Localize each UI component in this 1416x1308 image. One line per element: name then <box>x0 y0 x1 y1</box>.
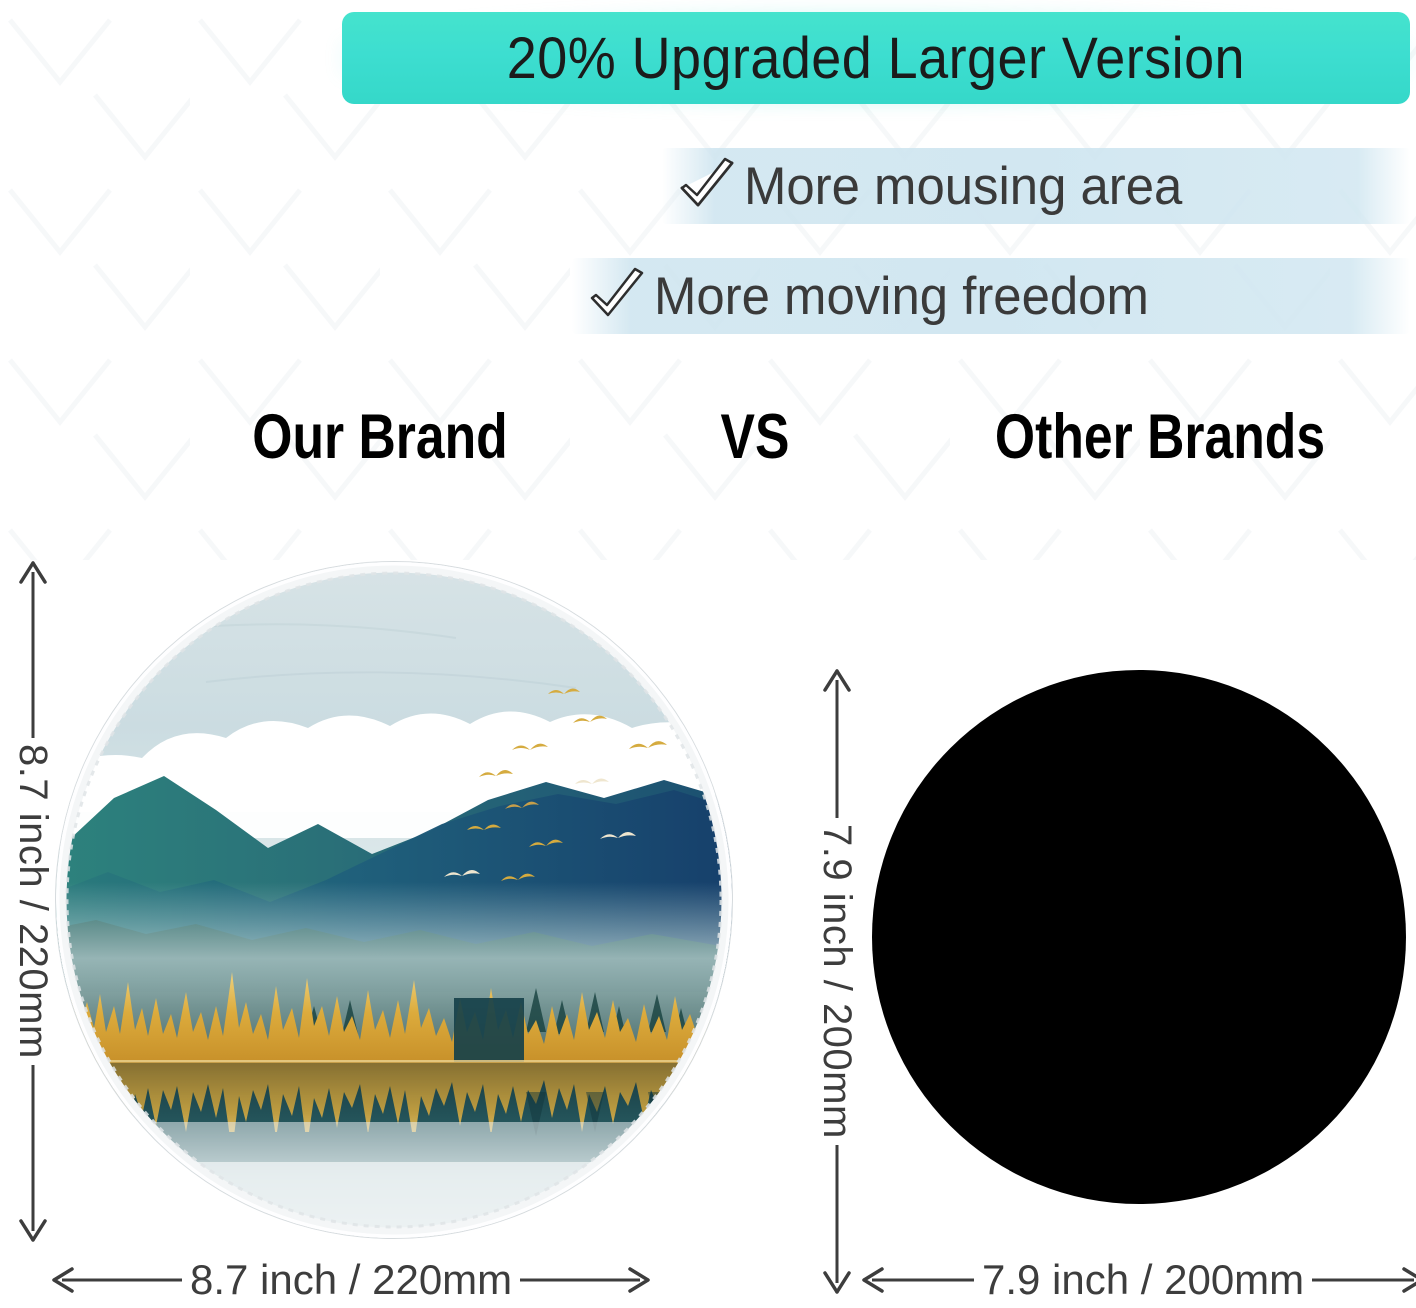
dimension-label: 7.9 inch / 200mm <box>974 1252 1312 1308</box>
banner-headline-text: 20% Upgraded Larger Version <box>507 25 1245 92</box>
dimension-label: 8.7 inch / 220mm <box>182 1252 520 1308</box>
dimension-label: 7.9 inch / 200mm <box>806 818 868 1145</box>
comparison-header: Our Brand VS Other Brands <box>0 392 1416 482</box>
product-comparison-infographic: 20% Upgraded Larger Version More mousing… <box>0 0 1416 1308</box>
other-product-mousepad <box>872 670 1406 1204</box>
check-icon <box>676 155 738 217</box>
black-mousepad-circle <box>872 670 1406 1204</box>
dimension-width-other-brands: 7.9 inch / 200mm <box>862 1252 1410 1308</box>
mousepad-landscape-artwork <box>56 562 732 1238</box>
mousepad-circle <box>56 562 732 1238</box>
feature-label: More moving freedom <box>654 270 1149 323</box>
arrow-left-line <box>52 1260 182 1300</box>
arrow-down-line <box>817 1145 857 1295</box>
arrow-up-line <box>817 668 857 818</box>
banner-surface: 20% Upgraded Larger Version <box>342 12 1410 104</box>
vs-label: VS <box>677 392 833 482</box>
our-brand-label: Our Brand <box>232 392 527 482</box>
dimension-width-our-brand: 8.7 inch / 220mm <box>52 1252 742 1308</box>
dimension-label: 8.7 inch / 220mm <box>2 738 64 1065</box>
dimension-height-other-brands: 7.9 inch / 200mm <box>806 668 868 1256</box>
arrow-down-line <box>13 1065 53 1243</box>
arrow-right-line <box>520 1260 650 1300</box>
headline-banner: 20% Upgraded Larger Version <box>342 12 1410 104</box>
our-product-mousepad <box>56 562 732 1238</box>
arrow-up-line <box>13 560 53 738</box>
feature-label: More mousing area <box>744 160 1182 213</box>
feature-bullet-mousing-area: More mousing area <box>662 148 1410 224</box>
other-brands-label: Other Brands <box>955 392 1365 482</box>
dimension-height-our-brand: 8.7 inch / 220mm <box>2 560 64 1260</box>
arrow-left-line <box>862 1260 974 1300</box>
feature-bullet-moving-freedom: More moving freedom <box>572 258 1410 334</box>
arrow-right-line <box>1312 1260 1416 1300</box>
check-icon <box>586 265 648 327</box>
